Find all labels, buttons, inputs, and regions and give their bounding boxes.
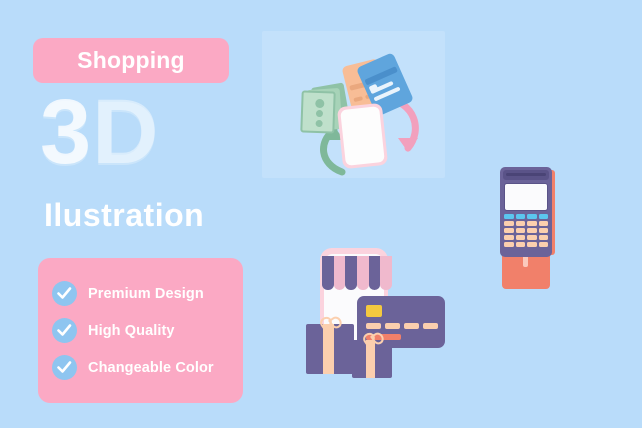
shop-awning-icon	[322, 256, 392, 290]
gift-box-small-icon	[352, 332, 392, 378]
list-item: Changeable Color	[38, 355, 243, 380]
list-item-label: Changeable Color	[88, 360, 214, 376]
list-item: High Quality	[38, 318, 243, 343]
check-icon	[52, 318, 77, 343]
feature-list-card: Premium Design High Quality Changeable C…	[38, 258, 243, 403]
phone-top-illustration	[337, 103, 388, 169]
pos-screen	[504, 183, 548, 211]
gift-box-large-icon	[306, 316, 354, 374]
category-badge-label: Shopping	[77, 47, 185, 74]
poster-canvas: Shopping 3D Ilustration Premium Design H…	[0, 0, 642, 428]
check-icon	[52, 355, 77, 380]
page-title-char-3: 3	[40, 81, 92, 183]
page-subtitle: Ilustration	[44, 198, 204, 232]
page-title-char-d: D	[92, 81, 159, 183]
list-item-label: Premium Design	[88, 286, 204, 302]
pos-terminal-illustration	[495, 165, 560, 290]
category-badge: Shopping	[33, 38, 229, 83]
list-item: Premium Design	[38, 281, 243, 306]
page-title-3d: 3D	[40, 86, 160, 178]
list-item-label: High Quality	[88, 323, 175, 339]
online-shop-illustration	[300, 248, 450, 383]
check-icon	[52, 281, 77, 306]
pos-keypad	[504, 214, 548, 247]
